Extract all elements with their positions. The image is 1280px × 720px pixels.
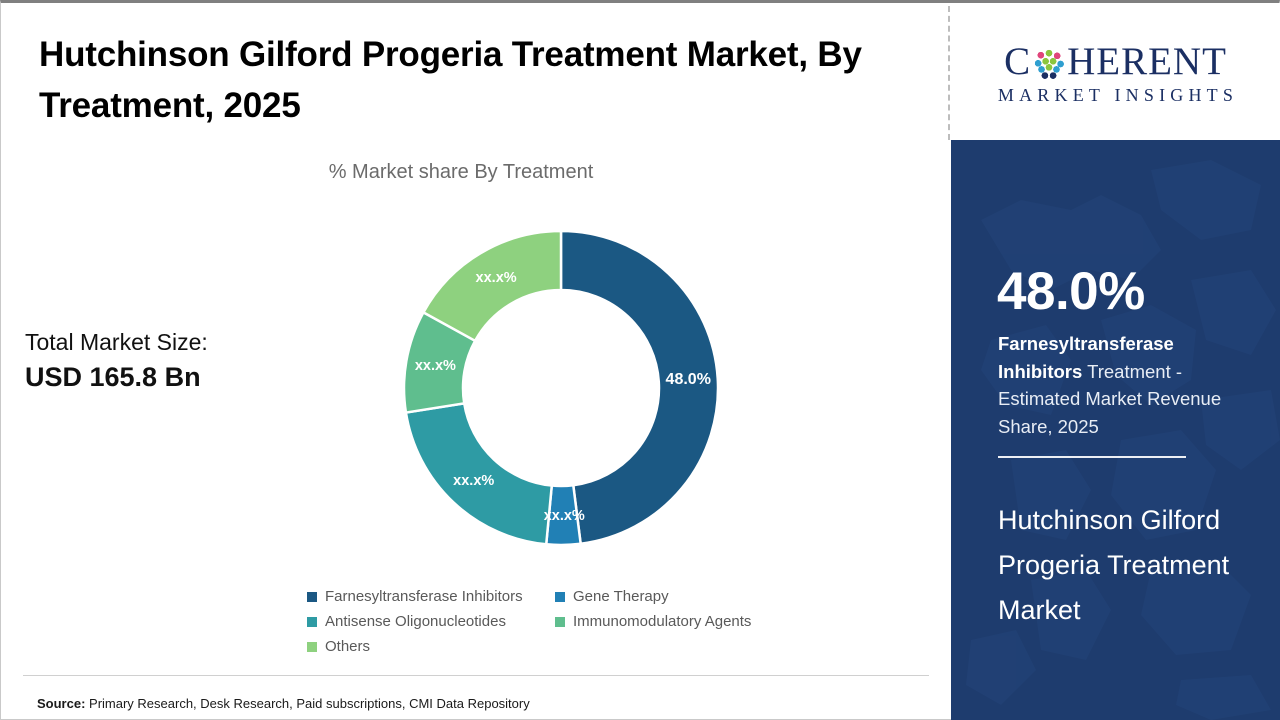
globe-dots-icon: [1032, 47, 1066, 81]
donut-slice-label: xx.x%: [453, 473, 494, 489]
brand-logo: CHERENT MARKET INSIGHTS: [951, 3, 1280, 140]
logo-word-herent: HERENT: [1067, 41, 1227, 83]
sidebar-market-title: Hutchinson Gilford Progeria Treatment Ma…: [998, 498, 1248, 633]
total-market-size-label: Total Market Size:: [25, 325, 325, 359]
legend-swatch-icon: [555, 592, 565, 602]
legend-swatch-icon: [555, 617, 565, 627]
donut-chart: 48.0%xx.x%xx.x%xx.x%xx.x%: [401, 225, 721, 551]
donut-chart-svg: 48.0%xx.x%xx.x%xx.x%xx.x%: [401, 225, 721, 551]
stat-panel-content: 48.0% Farnesyltransferase Inhibitors Tre…: [951, 140, 1280, 720]
footer-divider: [23, 675, 929, 676]
stat-divider: [998, 456, 1186, 458]
donut-slice-label: 48.0%: [666, 371, 711, 388]
source-text: Primary Research, Desk Research, Paid su…: [85, 696, 529, 711]
legend-item-antisense-oligonucleotides[interactable]: Antisense Oligonucleotides: [307, 614, 555, 630]
legend-swatch-icon: [307, 642, 317, 652]
legend-item-immunomodulatory-agents[interactable]: Immunomodulatory Agents: [555, 614, 815, 630]
legend-label: Farnesyltransferase Inhibitors: [325, 589, 523, 605]
logo-lockup: CHERENT MARKET INSIGHTS: [966, 37, 1266, 106]
donut-slice-label: xx.x%: [544, 508, 585, 524]
legend-item-others[interactable]: Others: [307, 639, 555, 655]
sidebar: CHERENT MARKET INSIGHTS: [951, 3, 1280, 720]
logo-tagline: MARKET INSIGHTS: [966, 85, 1266, 106]
legend-swatch-icon: [307, 592, 317, 602]
chart-legend: Farnesyltransferase Inhibitors Gene Ther…: [307, 589, 827, 664]
source-label: Source:: [37, 696, 85, 711]
main-content: Hutchinson Gilford Progeria Treatment Ma…: [1, 3, 949, 720]
stat-description: Farnesyltransferase Inhibitors Treatment…: [998, 330, 1248, 440]
legend-row: Antisense Oligonucleotides Immunomodulat…: [307, 614, 827, 630]
legend-swatch-icon: [307, 617, 317, 627]
donut-slice-label: xx.x%: [415, 358, 456, 374]
legend-row: Farnesyltransferase Inhibitors Gene Ther…: [307, 589, 827, 605]
stat-percent: 48.0%: [997, 265, 1145, 319]
stat-panel: 48.0% Farnesyltransferase Inhibitors Tre…: [951, 140, 1280, 720]
legend-item-farnesyltransferase-inhibitors[interactable]: Farnesyltransferase Inhibitors: [307, 589, 555, 605]
donut-slice-label: xx.x%: [476, 270, 517, 286]
legend-label: Immunomodulatory Agents: [573, 614, 751, 630]
chart-subtitle: % Market share By Treatment: [1, 161, 921, 184]
legend-row: Others: [307, 639, 827, 655]
legend-label: Gene Therapy: [573, 589, 669, 605]
logo-letter-c: C: [1004, 41, 1031, 83]
infographic-page: Hutchinson Gilford Progeria Treatment Ma…: [0, 0, 1280, 720]
total-market-size-value: USD 165.8 Bn: [25, 359, 325, 395]
total-market-size: Total Market Size: USD 165.8 Bn: [25, 325, 325, 395]
legend-item-gene-therapy[interactable]: Gene Therapy: [555, 589, 815, 605]
vertical-dashed-divider: [948, 6, 950, 140]
logo-wordmark: CHERENT: [966, 41, 1266, 83]
page-title: Hutchinson Gilford Progeria Treatment Ma…: [39, 29, 919, 131]
legend-label: Others: [325, 639, 370, 655]
source-note: Source: Primary Research, Desk Research,…: [37, 696, 530, 711]
legend-label: Antisense Oligonucleotides: [325, 614, 506, 630]
